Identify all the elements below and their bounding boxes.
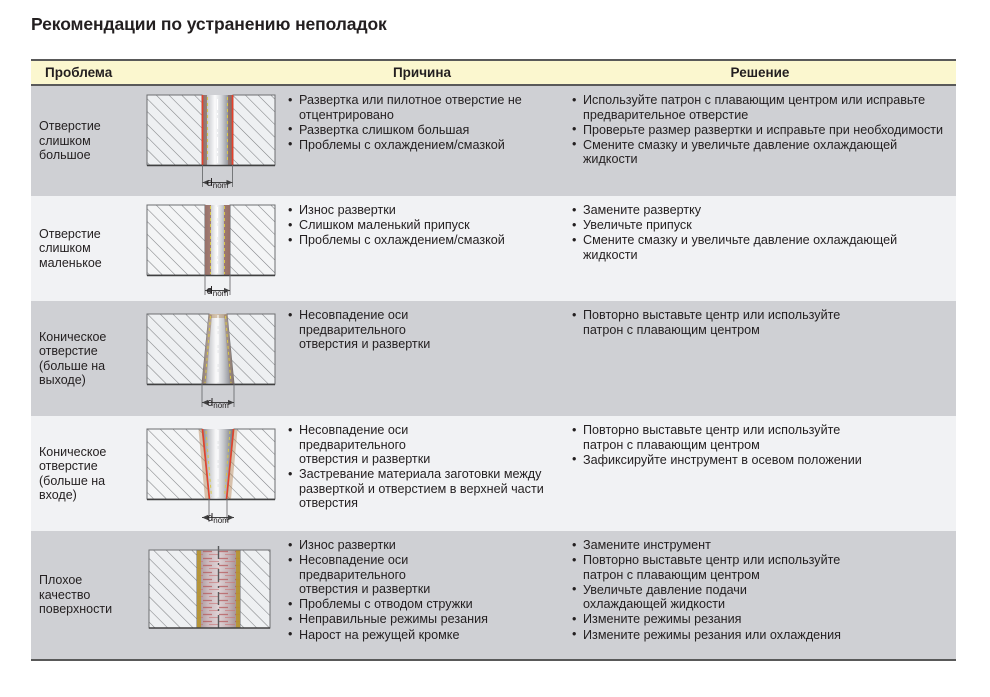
list-item: Развертка слишком большая <box>288 123 558 138</box>
dimension-label: dnom <box>207 512 229 525</box>
cause-list: Износ развертки Несовпадение оси предвар… <box>288 538 558 642</box>
list-item: Замените инструмент <box>572 538 950 553</box>
cause-list: Несовпадение оси предварительного отверс… <box>288 423 558 511</box>
cell-figure: dnom <box>136 301 280 416</box>
list-item: Неправильные режимы резания <box>288 612 558 627</box>
dimension-label: dnom <box>207 397 229 410</box>
figure-taper-wider-at-exit: dnom <box>139 306 277 414</box>
column-header-problem: Проблема <box>31 66 280 80</box>
list-item: Проблемы с отводом стружки <box>288 597 558 612</box>
table-row: Коническоеотверстие(больше навыходе) <box>31 301 956 416</box>
solution-list: Повторно выставьте центр или используйте… <box>572 423 950 467</box>
problem-label: Коническоеотверстие(больше навыходе) <box>39 330 106 388</box>
list-item: Несовпадение оси предварительного отверс… <box>288 553 449 597</box>
list-item: Повторно выставьте центр или используйте… <box>572 423 883 452</box>
problem-label: Коническоеотверстие(больше навходе) <box>39 445 106 503</box>
list-item: Проблемы с охлаждением/смазкой <box>288 233 558 248</box>
dimension-label: dnom <box>207 285 229 298</box>
list-item: Смените смазку и увеличьте давление охла… <box>572 138 950 167</box>
list-item: Развертка или пилотное отверстие не отце… <box>288 93 558 122</box>
column-header-solution: Решение <box>564 66 956 80</box>
table-row: Плохоекачествоповерхности <box>31 531 956 659</box>
solution-list: Используйте патрон с плавающим центром и… <box>572 93 950 167</box>
figure-poor-surface-finish <box>139 536 277 656</box>
figure-taper-wider-at-entry: dnom <box>139 421 277 529</box>
list-item: Износ развертки <box>288 203 558 218</box>
list-item: Замените развертку <box>572 203 950 218</box>
list-item: Измените режимы резания или охлаждения <box>572 628 950 643</box>
cell-cause: Износ развертки Несовпадение оси предвар… <box>280 531 564 659</box>
list-item: Повторно выставьте центр или используйте… <box>572 553 883 582</box>
cause-list: Развертка или пилотное отверстие не отце… <box>288 93 558 152</box>
list-item: Несовпадение оси предварительного отверс… <box>288 308 449 352</box>
cell-cause: Несовпадение оси предварительного отверс… <box>280 416 564 531</box>
cell-problem: Отверстиеслишкоммаленькое <box>31 196 136 301</box>
list-item: Износ развертки <box>288 538 558 553</box>
solution-list: Замените инструмент Повторно выставьте ц… <box>572 538 950 642</box>
list-item: Увеличьте припуск <box>572 218 950 233</box>
cell-figure: dnom <box>136 416 280 531</box>
list-item: Повторно выставьте центр или используйте… <box>572 308 883 337</box>
list-item: Используйте патрон с плавающим центром и… <box>572 93 950 122</box>
table-header-row: Проблема Причина Решение <box>31 61 956 86</box>
cell-solution: Используйте патрон с плавающим центром и… <box>564 86 956 196</box>
table-row: Отверстиеслишкомбольшое <box>31 86 956 196</box>
table-row: Отверстиеслишкоммаленькое <box>31 196 956 301</box>
list-item: Проблемы с охлаждением/смазкой <box>288 138 558 153</box>
cell-figure <box>136 531 280 659</box>
list-item: Проверьте размер развертки и исправьте п… <box>572 123 950 138</box>
list-item: Застревание материала заготовки между ра… <box>288 467 554 511</box>
table-row: Коническоеотверстие(больше навходе) <box>31 416 956 531</box>
column-header-cause: Причина <box>280 66 564 80</box>
list-item: Смените смазку и увеличьте давление охла… <box>572 233 950 262</box>
problem-label: Отверстиеслишкоммаленькое <box>39 227 102 271</box>
cell-figure: dnom <box>136 196 280 301</box>
problem-label: Отверстиеслишкомбольшое <box>39 119 101 163</box>
troubleshooting-table: Проблема Причина Решение Отверстиеслишко… <box>31 59 956 661</box>
cell-solution: Повторно выставьте центр или используйте… <box>564 301 956 416</box>
cause-list: Износ развертки Слишком маленький припус… <box>288 203 558 248</box>
cell-cause: Несовпадение оси предварительного отверс… <box>280 301 564 416</box>
cell-problem: Плохоекачествоповерхности <box>31 531 136 659</box>
list-item: Нарост на режущей кромке <box>288 628 558 643</box>
solution-list: Замените развертку Увеличьте припуск Сме… <box>572 203 950 262</box>
cell-solution: Замените развертку Увеличьте припуск Сме… <box>564 196 956 301</box>
cell-cause: Развертка или пилотное отверстие не отце… <box>280 86 564 196</box>
list-item: Зафиксируйте инструмент в осевом положен… <box>572 453 950 468</box>
dimension-label: dnom <box>207 177 229 190</box>
page-title: Рекомендации по устранению неполадок <box>31 14 387 35</box>
cause-list: Несовпадение оси предварительного отверс… <box>288 308 558 352</box>
list-item: Слишком маленький припуск <box>288 218 558 233</box>
cell-problem: Отверстиеслишкомбольшое <box>31 86 136 196</box>
cell-solution: Замените инструмент Повторно выставьте ц… <box>564 531 956 659</box>
list-item: Измените режимы резания <box>572 612 950 627</box>
cell-figure: dnom <box>136 86 280 196</box>
list-item: Несовпадение оси предварительного отверс… <box>288 423 449 467</box>
page-root: Рекомендации по устранению неполадок Про… <box>0 0 990 697</box>
figure-hole-too-small: dnom <box>139 201 277 301</box>
cell-problem: Коническоеотверстие(больше навыходе) <box>31 301 136 416</box>
cell-solution: Повторно выставьте центр или используйте… <box>564 416 956 531</box>
problem-label: Плохоекачествоповерхности <box>39 573 112 617</box>
solution-list: Повторно выставьте центр или используйте… <box>572 308 950 337</box>
cell-cause: Износ развертки Слишком маленький припус… <box>280 196 564 301</box>
list-item: Увеличьте давление подачи охлаждающей жи… <box>572 583 818 612</box>
figure-hole-too-large: dnom <box>139 91 277 195</box>
cell-problem: Коническоеотверстие(больше навходе) <box>31 416 136 531</box>
